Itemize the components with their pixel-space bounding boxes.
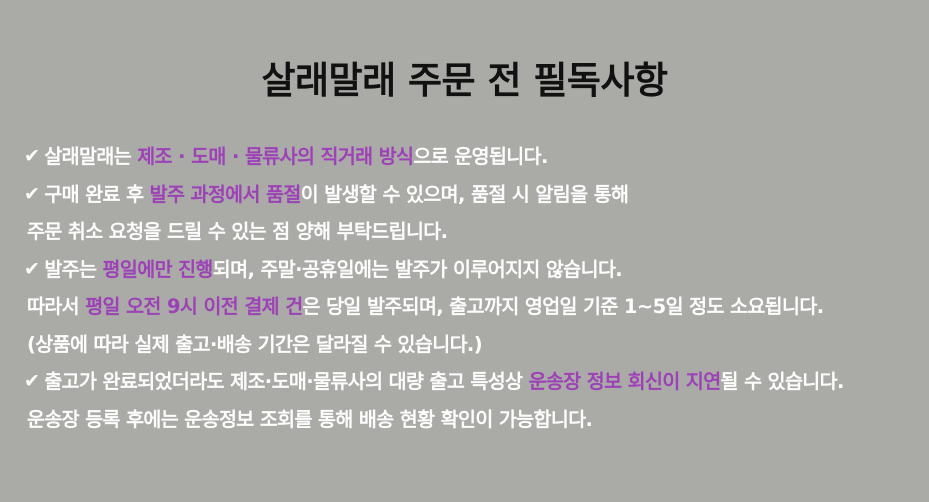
notice-text: 구매 완료 후 xyxy=(44,183,149,206)
check-icon: ✔ xyxy=(24,251,39,289)
notice-text: 발주는 xyxy=(44,258,102,281)
notice-text: 따라서 xyxy=(27,295,85,318)
notice-text: 되며, 주말·공휴일에는 발주가 이루어지지 않습니다. xyxy=(213,258,622,281)
check-icon: ✔ xyxy=(24,176,39,214)
notice-text: (상품에 따라 실제 출고·배송 기간은 달라질 수 있습니다.) xyxy=(27,333,482,356)
notice-text: 으로 운영됩니다. xyxy=(413,145,547,168)
notice-line: ✔출고가 완료되었더라도 제조·도매·물류사의 대량 출고 특성상 운송장 정보… xyxy=(24,363,920,401)
highlighted-text: 발주 과정에서 품절 xyxy=(150,183,301,206)
highlighted-text: 제조 · 도매 · 물류사의 직거래 방식 xyxy=(137,145,413,168)
notice-line: ✔구매 완료 후 발주 과정에서 품절이 발생할 수 있으며, 품절 시 알림을… xyxy=(24,176,920,214)
highlighted-text: 평일에만 진행 xyxy=(103,258,213,281)
notice-text: 살래말래는 xyxy=(44,145,137,168)
notice-card: 살래말래 주문 전 필독사항 ✔살래말래는 제조 · 도매 · 물류사의 직거래… xyxy=(0,0,929,502)
notice-text: 은 당일 발주되며, 출고까지 영업일 기준 1~5일 정도 소요됩니다. xyxy=(303,295,824,318)
notice-text: 출고가 완료되었더라도 제조·도매·물류사의 대량 출고 특성상 xyxy=(44,370,528,393)
notice-line: (상품에 따라 실제 출고·배송 기간은 달라질 수 있습니다.) xyxy=(24,326,920,364)
notice-line: 따라서 평일 오전 9시 이전 결제 건은 당일 발주되며, 출고까지 영업일 … xyxy=(24,288,920,326)
notice-text: 주문 취소 요청을 드릴 수 있는 점 양해 부탁드립니다. xyxy=(27,220,447,243)
notice-line: 주문 취소 요청을 드릴 수 있는 점 양해 부탁드립니다. xyxy=(24,213,920,251)
notice-line: ✔살래말래는 제조 · 도매 · 물류사의 직거래 방식으로 운영됩니다. xyxy=(24,138,920,176)
page-title: 살래말래 주문 전 필독사항 xyxy=(0,58,929,104)
notice-list: ✔살래말래는 제조 · 도매 · 물류사의 직거래 방식으로 운영됩니다.✔구매… xyxy=(24,138,920,438)
notice-text: 될 수 있습니다. xyxy=(721,370,844,393)
notice-text: 이 발생할 수 있으며, 품절 시 알림을 통해 xyxy=(301,183,629,206)
check-icon: ✔ xyxy=(24,363,39,401)
check-icon: ✔ xyxy=(24,138,39,176)
highlighted-text: 평일 오전 9시 이전 결제 건 xyxy=(85,295,302,318)
notice-line: 운송장 등록 후에는 운송정보 조회를 통해 배송 현황 확인이 가능합니다. xyxy=(24,401,920,439)
notice-line: ✔발주는 평일에만 진행되며, 주말·공휴일에는 발주가 이루어지지 않습니다. xyxy=(24,251,920,289)
notice-text: 운송장 등록 후에는 운송정보 조회를 통해 배송 현황 확인이 가능합니다. xyxy=(27,408,592,431)
highlighted-text: 운송장 정보 회신이 지연 xyxy=(529,370,721,393)
